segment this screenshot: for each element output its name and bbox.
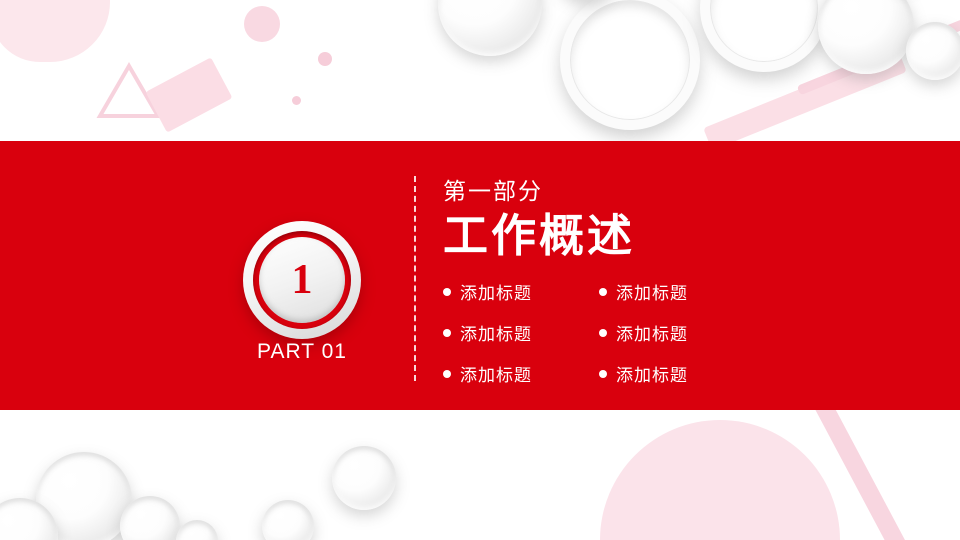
grey-ring-top-2 <box>700 0 828 72</box>
grey-ring-top-1 <box>560 0 700 130</box>
section-subtitle: 第一部分 <box>443 178 688 206</box>
section-content: 第一部分 工作概述 添加标题 添加标题 添加标题 添加标题 添加标题 <box>443 178 688 386</box>
pink-blob-top-left <box>0 0 110 62</box>
grey-circle-bottom-4 <box>332 446 396 510</box>
grey-circle-top-4 <box>906 22 960 80</box>
bullet-item: 添加标题 <box>443 361 599 386</box>
grey-circle-bottom-6 <box>176 520 218 540</box>
pink-circle-bottom-large <box>600 420 840 540</box>
slide-canvas: 1 PART 01 第一部分 工作概述 添加标题 添加标题 添加标题 添加标题 <box>0 0 960 540</box>
grey-circle-top-1 <box>438 0 542 56</box>
part-label: PART 01 <box>183 340 421 364</box>
bullet-dot-icon <box>443 329 451 337</box>
pink-dot-top <box>318 52 332 66</box>
pink-dot-top-2 <box>292 96 301 105</box>
bullet-dot-icon <box>599 288 607 296</box>
bullet-grid: 添加标题 添加标题 添加标题 添加标题 添加标题 添加标题 <box>443 279 688 386</box>
bullet-label: 添加标题 <box>616 361 688 386</box>
grey-circle-bottom-5 <box>262 500 314 540</box>
bullet-item: 添加标题 <box>599 279 688 304</box>
bullet-item: 添加标题 <box>599 361 688 386</box>
dashed-divider <box>414 176 416 381</box>
section-number-badge: 1 <box>243 221 361 339</box>
badge-core: 1 <box>259 237 345 323</box>
section-title: 工作概述 <box>443 210 688 262</box>
bullet-dot-icon <box>443 370 451 378</box>
bullet-dot-icon <box>443 288 451 296</box>
bullet-label: 添加标题 <box>616 279 688 304</box>
badge-number-text: 1 <box>292 259 313 301</box>
bullet-label: 添加标题 <box>460 320 532 345</box>
bullet-item: 添加标题 <box>443 279 599 304</box>
pink-circle-small-top <box>244 6 280 42</box>
bullet-item: 添加标题 <box>599 320 688 345</box>
bullet-item: 添加标题 <box>443 320 599 345</box>
bullet-label: 添加标题 <box>460 361 532 386</box>
bullet-dot-icon <box>599 329 607 337</box>
bullet-label: 添加标题 <box>460 279 532 304</box>
bullet-dot-icon <box>599 370 607 378</box>
bullet-label: 添加标题 <box>616 320 688 345</box>
